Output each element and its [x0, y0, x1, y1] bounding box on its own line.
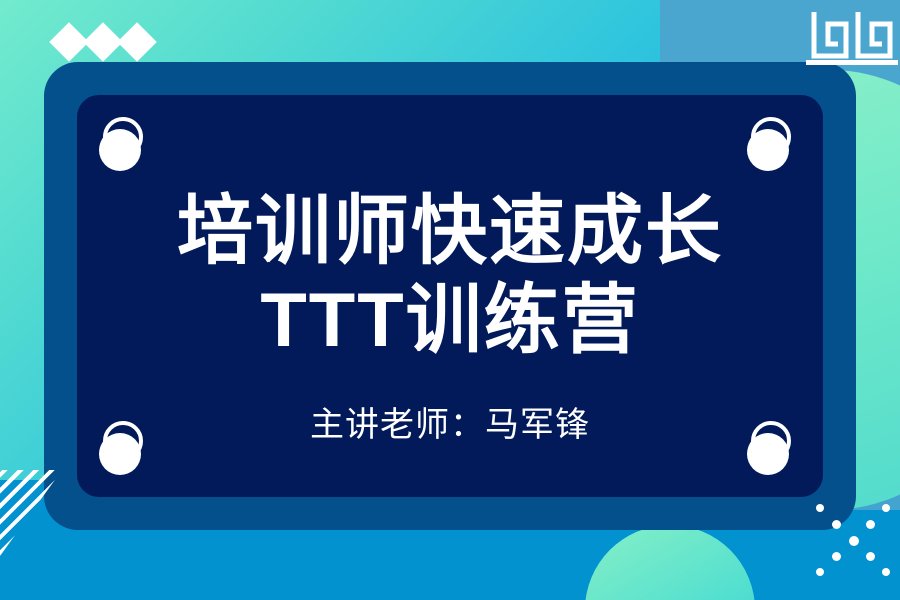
- poster-title-line-1: 培训师快速成长: [77, 191, 823, 273]
- corner-ornament-top-right: [747, 117, 801, 171]
- poster-title-line-2: TTT训练营: [77, 279, 823, 363]
- dot-x-decoration: [810, 498, 896, 594]
- poster-text-block: 培训师快速成长 TTT训练营 主讲老师：马军锋: [77, 191, 823, 446]
- poster-canvas: 培训师快速成长 TTT训练营 主讲老师：马军锋: [0, 0, 900, 600]
- circle-icon: [99, 129, 141, 171]
- poster-card-inner: 培训师快速成长 TTT训练营 主讲老师：马军锋: [77, 95, 823, 497]
- poster-card-outer: 培训师快速成长 TTT训练营 主讲老师：马军锋: [44, 62, 856, 530]
- corner-ornament-top-left: [99, 117, 153, 171]
- poster-subtitle-instructor: 主讲老师：马军锋: [77, 397, 823, 446]
- greek-key-icon: [806, 4, 898, 73]
- circle-icon: [747, 129, 789, 171]
- diamond-icon: [117, 22, 157, 62]
- diamond-cluster: [55, 28, 151, 56]
